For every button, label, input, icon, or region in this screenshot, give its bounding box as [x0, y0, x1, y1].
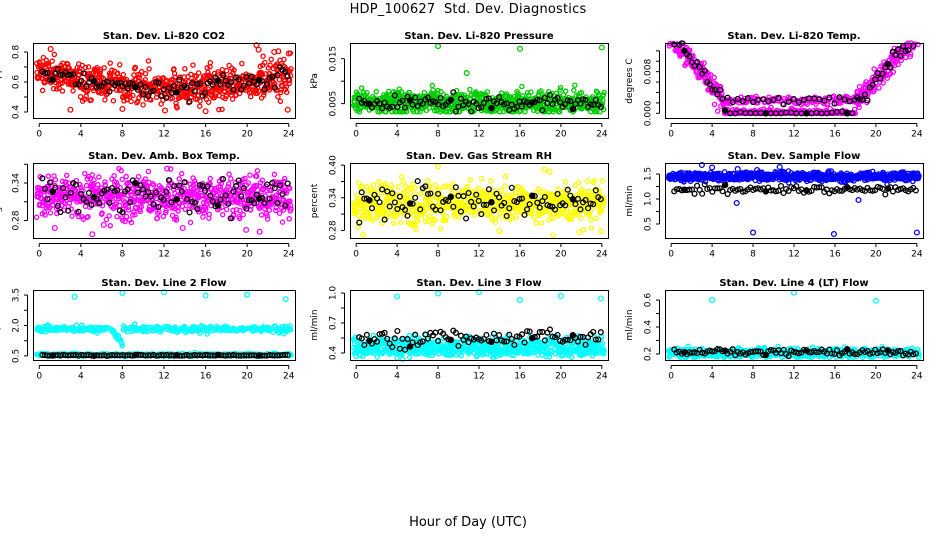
data-points-line3-flow: [351, 290, 606, 362]
panel-ylabel-gas-stream-rh: percent: [310, 183, 320, 217]
xtick-label-line4-lt-flow: 16: [829, 372, 841, 382]
plot-frame-amb-box-temp: [34, 164, 296, 239]
xtick-label-sample-flow: 8: [750, 250, 756, 260]
panel-title-li820-co2: Stan. Dev. Li-820 CO2: [33, 31, 295, 42]
ytick-label-line2-flow: 3.5: [12, 288, 22, 302]
xtick-label-line4-lt-flow: 24: [911, 372, 923, 382]
xtick-label-li820-co2: 12: [158, 130, 169, 140]
panel-title-li820-temp: Stan. Dev. Li-820 Temp.: [665, 31, 923, 42]
xtick-label-li820-pressure: 20: [555, 130, 567, 140]
xtick-label-sample-flow: 20: [870, 250, 882, 260]
ytick-label-sample-flow: 1.5: [644, 167, 654, 181]
ytick-label-gas-stream-rh: 0.34: [329, 187, 339, 207]
panel-plot-line2-flow: 0.52.03.504812162024: [0, 0, 936, 540]
xtick-label-line3-flow: 4: [394, 372, 400, 382]
panel-plot-li820-temp: 0.0000.00804812162024: [0, 0, 936, 540]
panel-ylabel-li820-co2: Licor ppm: [0, 58, 3, 103]
xtick-label-line4-lt-flow: 20: [870, 372, 882, 382]
xtick-label-line4-lt-flow: 4: [709, 372, 715, 382]
xtick-label-li820-temp: 4: [709, 130, 715, 140]
xtick-label-gas-stream-rh: 16: [514, 250, 526, 260]
ytick-label-line3-flow: 0.7: [329, 316, 339, 330]
data-points-line2-flow: [35, 290, 294, 359]
xtick-label-line2-flow: 20: [241, 372, 253, 382]
xtick-label-line2-flow: 4: [78, 372, 84, 382]
xtick-label-li820-temp: 24: [911, 130, 923, 140]
panel-title-gas-stream-rh: Stan. Dev. Gas Stream RH: [350, 151, 608, 162]
xtick-label-li820-pressure: 4: [394, 130, 400, 140]
panel-title-sample-flow: Stan. Dev. Sample Flow: [665, 151, 923, 162]
overlay-points-amb-box-temp: [40, 176, 290, 221]
panel-ylabel-line3-flow: ml/min: [310, 309, 320, 340]
ytick-label-li820-co2: 0.4: [12, 105, 22, 120]
panel-ylabel-li820-temp: degrees C: [625, 58, 635, 103]
xtick-label-gas-stream-rh: 20: [555, 250, 567, 260]
overlay-points-gas-stream-rh: [357, 179, 603, 225]
xtick-label-amb-box-temp: 8: [120, 250, 126, 260]
panel-gas-stream-rh: Stan. Dev. Gas Stream RHpercent0.280.340…: [0, 0, 936, 540]
panel-ylabel-sample-flow: ml/min: [625, 185, 635, 216]
diagnostics-figure: HDP_100627 Std. Dev. Diagnostics Stan. D…: [0, 0, 936, 540]
plot-frame-li820-pressure: [351, 44, 609, 119]
ytick-label-li820-temp: 0.000: [644, 100, 654, 126]
plot-frame-line3-flow: [351, 291, 609, 361]
xtick-label-li820-temp: 12: [788, 130, 799, 140]
data-points-sample-flow: [666, 163, 921, 237]
ytick-label-li820-pressure: 0.005: [329, 91, 339, 117]
figure-xaxis-label: Hour of Day (UTC): [0, 515, 936, 530]
panel-amb-box-temp: Stan. Dev. Amb. Box Temp.degrees C0.280.…: [0, 0, 936, 540]
xtick-label-li820-temp: 20: [870, 130, 882, 140]
panel-line2-flow: Stan. Dev. Line 2 Flowml/min0.52.03.5048…: [0, 0, 936, 540]
xtick-label-line4-lt-flow: 8: [750, 372, 756, 382]
xtick-label-li820-co2: 16: [200, 130, 212, 140]
xtick-label-line3-flow: 8: [435, 372, 441, 382]
panel-plot-gas-stream-rh: 0.280.340.4004812162024: [0, 0, 936, 540]
data-points-li820-pressure: [351, 44, 606, 114]
xtick-label-li820-co2: 4: [78, 130, 84, 140]
xtick-label-line4-lt-flow: 0: [668, 372, 674, 382]
ytick-label-line3-flow: 1.0: [329, 286, 339, 301]
panel-plot-line4-lt-flow: 0.20.40.604812162024: [0, 0, 936, 540]
overlay-points-li820-temp: [672, 41, 916, 116]
xtick-label-amb-box-temp: 4: [78, 250, 84, 260]
panel-sample-flow: Stan. Dev. Sample Flowml/min0.51.01.5048…: [0, 0, 936, 540]
plot-frame-li820-co2: [34, 44, 296, 119]
data-points-gas-stream-rh: [351, 164, 606, 237]
ytick-label-li820-pressure: 0.015: [329, 46, 339, 72]
panel-plot-amb-box-temp: 0.280.3404812162024: [0, 0, 936, 540]
xtick-label-sample-flow: 24: [911, 250, 923, 260]
ytick-label-li820-co2: 0.8: [12, 45, 22, 60]
panel-plot-li820-pressure: 0.0050.01504812162024: [0, 0, 936, 540]
xtick-label-amb-box-temp: 20: [241, 250, 253, 260]
xtick-label-li820-pressure: 8: [435, 130, 441, 140]
plot-frame-sample-flow: [666, 164, 924, 239]
panel-line4-lt-flow: Stan. Dev. Line 4 (LT) Flowml/min0.20.40…: [0, 0, 936, 540]
xtick-label-line3-flow: 12: [473, 372, 484, 382]
xtick-label-line2-flow: 24: [283, 372, 295, 382]
data-points-amb-box-temp: [35, 166, 294, 236]
panel-plot-sample-flow: 0.51.01.504812162024: [0, 0, 936, 540]
xtick-label-gas-stream-rh: 8: [435, 250, 441, 260]
data-points-li820-co2: [35, 43, 294, 114]
overlay-points-line4-lt-flow: [672, 347, 918, 359]
plot-frame-li820-temp: [666, 44, 924, 119]
xtick-label-amb-box-temp: 12: [158, 250, 169, 260]
panel-li820-temp: Stan. Dev. Li-820 Temp.degrees C0.0000.0…: [0, 0, 936, 540]
xtick-label-line3-flow: 16: [514, 372, 526, 382]
plot-frame-line2-flow: [34, 291, 296, 361]
ytick-label-line3-flow: 0.4: [329, 346, 339, 361]
xtick-label-li820-co2: 0: [36, 130, 42, 140]
panel-ylabel-line2-flow: ml/min: [0, 309, 3, 340]
xtick-label-li820-co2: 8: [120, 130, 126, 140]
panel-plot-line3-flow: 0.40.71.004812162024: [0, 0, 936, 540]
xtick-label-sample-flow: 16: [829, 250, 841, 260]
xtick-label-amb-box-temp: 24: [283, 250, 295, 260]
figure-main-title: HDP_100627 Std. Dev. Diagnostics: [0, 2, 936, 17]
ytick-label-amb-box-temp: 0.34: [12, 173, 22, 193]
xtick-label-li820-pressure: 24: [596, 130, 608, 140]
panel-li820-co2: Stan. Dev. Li-820 CO2Licor ppm0.40.60.80…: [0, 0, 936, 540]
data-points-li820-temp: [667, 41, 920, 115]
panel-title-line2-flow: Stan. Dev. Line 2 Flow: [33, 278, 295, 289]
panel-line3-flow: Stan. Dev. Line 3 Flowml/min0.40.71.0048…: [0, 0, 936, 540]
overlay-points-sample-flow: [672, 182, 918, 197]
panel-li820-pressure: Stan. Dev. Li-820 PressurekPa0.0050.0150…: [0, 0, 936, 540]
xtick-label-sample-flow: 12: [788, 250, 799, 260]
overlay-points-li820-pressure: [357, 90, 603, 114]
xtick-label-line2-flow: 16: [200, 372, 212, 382]
data-points-line4-lt-flow: [666, 290, 921, 359]
ytick-label-line4-lt-flow: 0.2: [644, 347, 654, 361]
ytick-label-gas-stream-rh: 0.28: [329, 220, 339, 240]
overlay-points-line2-flow: [40, 352, 290, 358]
panel-title-line3-flow: Stan. Dev. Line 3 Flow: [350, 278, 608, 289]
xtick-label-line4-lt-flow: 12: [788, 372, 799, 382]
panel-title-amb-box-temp: Stan. Dev. Amb. Box Temp.: [33, 151, 295, 162]
xtick-label-line3-flow: 0: [353, 372, 359, 382]
xtick-label-li820-co2: 20: [241, 130, 253, 140]
ytick-label-line2-flow: 2.0: [12, 318, 22, 333]
panel-title-li820-pressure: Stan. Dev. Li-820 Pressure: [350, 31, 608, 42]
xtick-label-amb-box-temp: 16: [200, 250, 212, 260]
ytick-label-sample-flow: 1.0: [644, 192, 654, 207]
ytick-label-line4-lt-flow: 0.6: [644, 293, 654, 308]
ytick-label-li820-co2: 0.6: [12, 75, 22, 90]
overlay-points-li820-co2: [40, 65, 290, 104]
xtick-label-line3-flow: 24: [596, 372, 608, 382]
xtick-label-li820-pressure: 12: [473, 130, 484, 140]
panel-ylabel-amb-box-temp: degrees C: [0, 178, 3, 223]
xtick-label-sample-flow: 0: [668, 250, 674, 260]
xtick-label-gas-stream-rh: 12: [473, 250, 484, 260]
ytick-label-gas-stream-rh: 0.40: [329, 155, 339, 175]
xtick-label-gas-stream-rh: 4: [394, 250, 400, 260]
ytick-label-sample-flow: 0.5: [644, 217, 654, 231]
ytick-label-amb-box-temp: 0.28: [12, 210, 22, 230]
plot-frame-line4-lt-flow: [666, 291, 924, 361]
ytick-label-line4-lt-flow: 0.4: [644, 320, 654, 335]
xtick-label-gas-stream-rh: 24: [596, 250, 608, 260]
xtick-label-line2-flow: 0: [36, 372, 42, 382]
xtick-label-li820-temp: 8: [750, 130, 756, 140]
xtick-label-li820-co2: 24: [283, 130, 295, 140]
xtick-label-li820-pressure: 16: [514, 130, 526, 140]
panel-ylabel-line4-lt-flow: ml/min: [625, 309, 635, 340]
ytick-label-li820-temp: 0.008: [644, 58, 654, 84]
xtick-label-li820-temp: 16: [829, 130, 841, 140]
panel-ylabel-li820-pressure: kPa: [310, 73, 320, 89]
xtick-label-line2-flow: 8: [120, 372, 126, 382]
ytick-label-line2-flow: 0.5: [12, 349, 22, 363]
xtick-label-line3-flow: 20: [555, 372, 567, 382]
panel-plot-li820-co2: 0.40.60.804812162024: [0, 0, 936, 540]
panel-title-line4-lt-flow: Stan. Dev. Line 4 (LT) Flow: [665, 278, 923, 289]
xtick-label-amb-box-temp: 0: [36, 250, 42, 260]
xtick-label-gas-stream-rh: 0: [353, 250, 359, 260]
xtick-label-li820-pressure: 0: [353, 130, 359, 140]
plot-frame-gas-stream-rh: [351, 164, 609, 239]
xtick-label-line2-flow: 12: [158, 372, 169, 382]
overlay-points-line3-flow: [357, 327, 603, 352]
xtick-label-li820-temp: 0: [668, 130, 674, 140]
xtick-label-sample-flow: 4: [709, 250, 715, 260]
